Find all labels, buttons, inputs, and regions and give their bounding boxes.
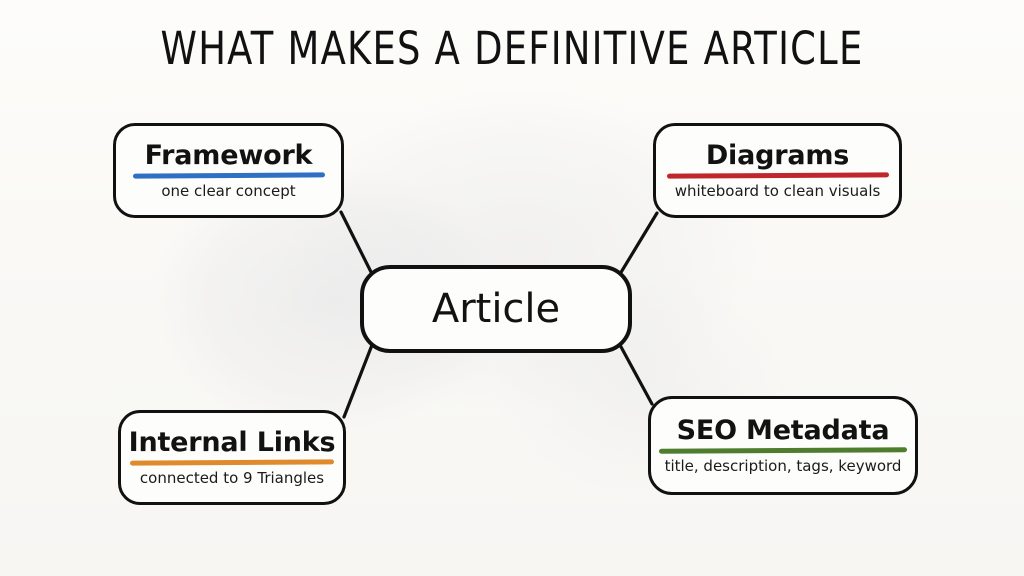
- node-article[interactable]: Article: [360, 265, 632, 353]
- edge-article-internal-links: [344, 345, 372, 417]
- node-seo-metadata-accent-rule: [659, 447, 907, 454]
- node-framework-accent-rule: [132, 172, 324, 178]
- edge-article-seo-metadata: [620, 345, 652, 404]
- node-framework[interactable]: Framework one clear concept: [113, 123, 344, 218]
- node-diagrams-accent-rule: [666, 172, 888, 178]
- node-diagrams-title: Diagrams: [706, 142, 849, 170]
- edge-article-framework: [341, 212, 372, 274]
- node-article-title: Article: [432, 288, 560, 330]
- node-seo-metadata[interactable]: SEO Metadata title, description, tags, k…: [648, 396, 918, 495]
- node-internal-links-accent-rule: [130, 459, 334, 465]
- edge-article-diagrams: [620, 213, 657, 274]
- node-diagrams[interactable]: Diagrams whiteboard to clean visuals: [653, 123, 902, 218]
- node-diagrams-subtitle: whiteboard to clean visuals: [675, 183, 881, 200]
- node-internal-links[interactable]: Internal Links connected to 9 Triangles: [118, 410, 346, 505]
- node-framework-subtitle: one clear concept: [161, 183, 295, 200]
- node-framework-title: Framework: [145, 142, 313, 170]
- node-internal-links-title: Internal Links: [129, 429, 336, 457]
- node-seo-metadata-title: SEO Metadata: [677, 417, 890, 445]
- node-seo-metadata-subtitle: title, description, tags, keyword: [665, 458, 902, 475]
- mindmap-canvas: WHAT MAKES A DEFINITIVE ARTICLE Article …: [0, 0, 1024, 576]
- page-title: WHAT MAKES A DEFINITIVE ARTICLE: [92, 22, 932, 75]
- node-internal-links-subtitle: connected to 9 Triangles: [140, 470, 324, 487]
